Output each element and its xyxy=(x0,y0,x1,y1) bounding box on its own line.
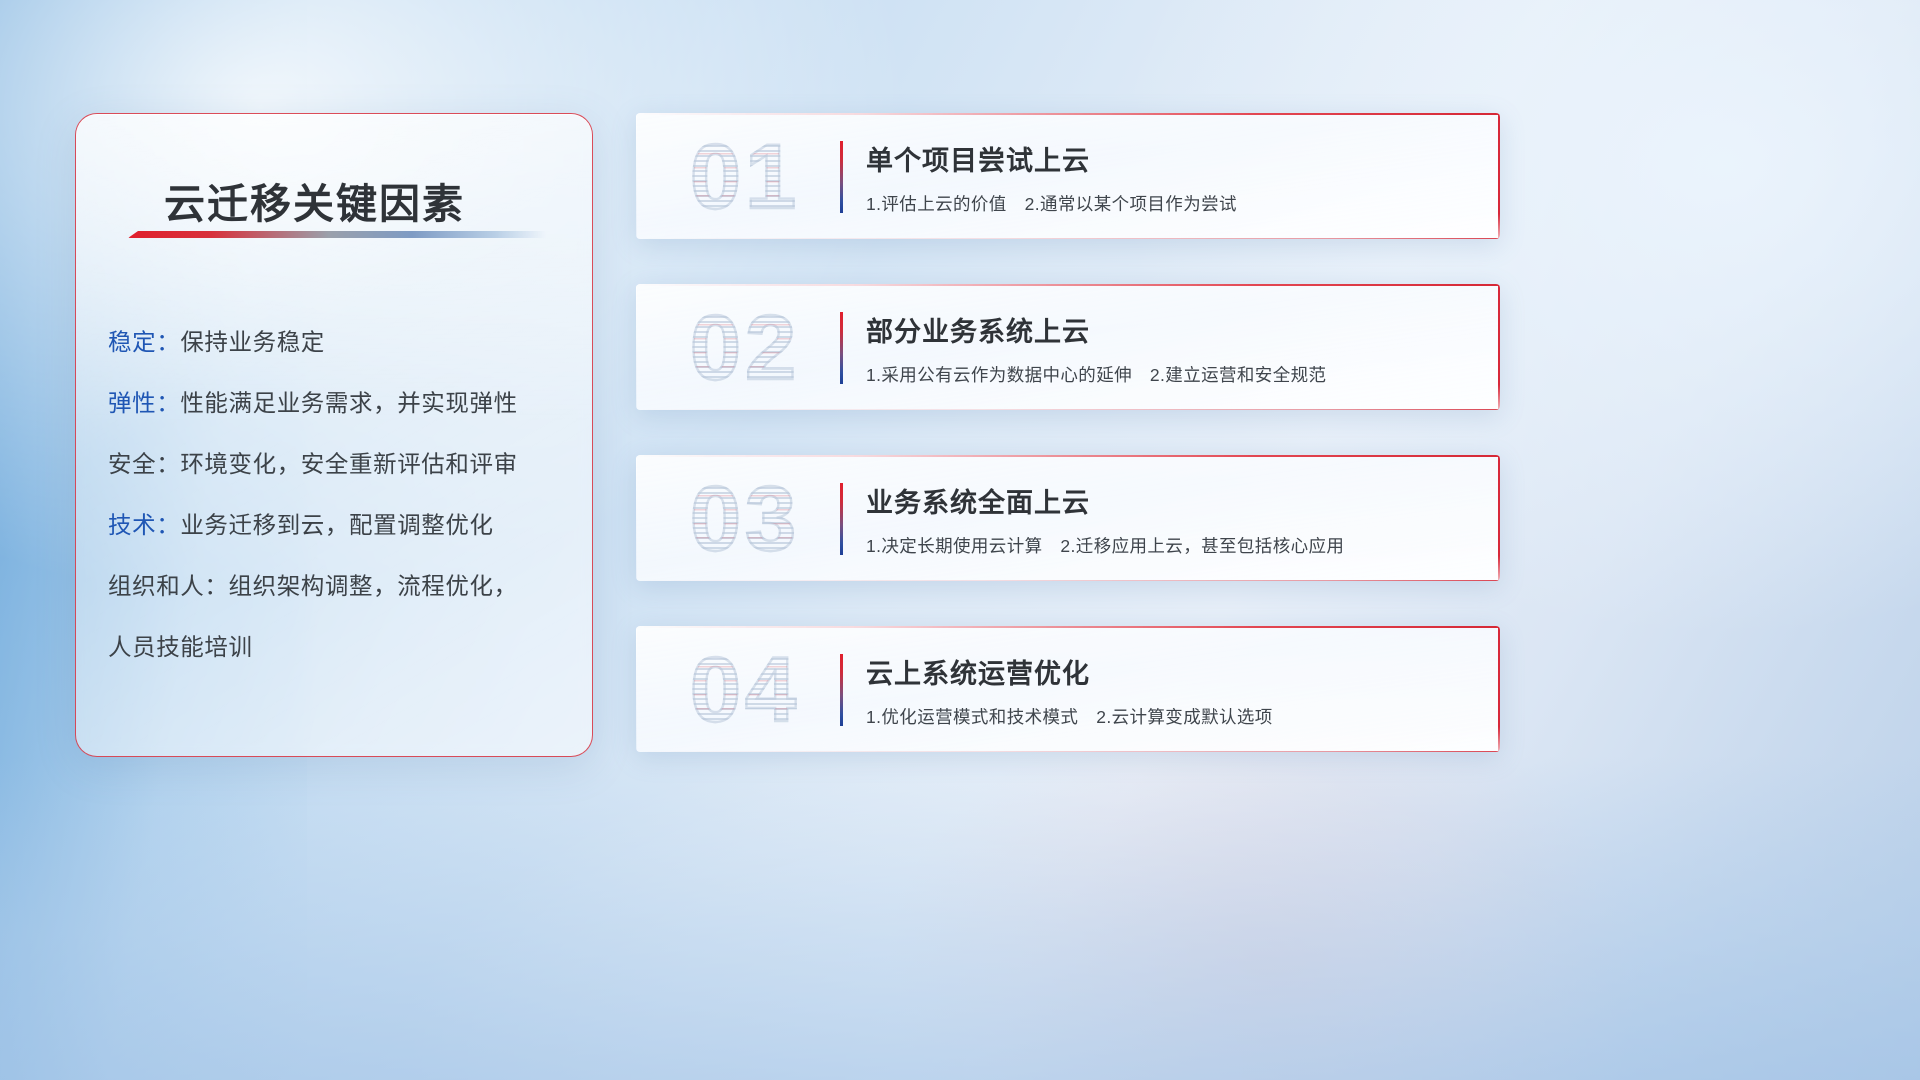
card-top-accent-line xyxy=(636,113,1500,115)
card-heading: 部分业务系统上云 xyxy=(866,310,1090,349)
stage-card[interactable]: 0101单个项目尝试上云1.评估上云的价值 2.通常以某个项目作为尝试 xyxy=(636,113,1500,239)
card-right-accent-line xyxy=(1498,455,1500,581)
factor-line: 技术：业务迁移到云，配置调整优化 xyxy=(108,495,570,556)
card-top-accent-line xyxy=(636,455,1500,457)
slide-stage: 云迁移关键因素 稳定：保持业务稳定弹性：性能满足业务需求，并实现弹性安全：环境变… xyxy=(0,0,1920,1080)
factor-text: 性能满足业务需求，并实现弹性 xyxy=(180,390,517,416)
factor-line: 弹性：性能满足业务需求，并实现弹性 xyxy=(108,373,570,434)
stage-number-watermark-red-overlay: 01 xyxy=(660,125,830,229)
factor-key: 技术： xyxy=(108,512,180,538)
card-top-accent-line xyxy=(636,626,1500,628)
card-heading: 云上系统运营优化 xyxy=(866,652,1090,691)
card-bottom-accent-line xyxy=(636,409,1500,410)
key-factors-panel: 云迁移关键因素 稳定：保持业务稳定弹性：性能满足业务需求，并实现弹性安全：环境变… xyxy=(75,113,593,757)
title-underline-rule xyxy=(128,231,546,238)
factor-key: 组织和人： xyxy=(108,573,229,599)
factor-text: 保持业务稳定 xyxy=(180,329,325,355)
card-right-accent-line xyxy=(1498,626,1500,752)
card-accent-bar xyxy=(840,483,843,555)
stage-card[interactable]: 0404云上系统运营优化1.优化运营模式和技术模式 2.云计算变成默认选项 xyxy=(636,626,1500,752)
stage-card-list: 0101单个项目尝试上云1.评估上云的价值 2.通常以某个项目作为尝试0202部… xyxy=(636,113,1500,797)
factor-line: 人员技能培训 xyxy=(108,617,570,678)
factor-text: 组织架构调整，流程优化， xyxy=(229,573,518,599)
page-title: 云迁移关键因素 xyxy=(164,170,465,230)
card-bottom-accent-line xyxy=(636,751,1500,752)
factor-key: 安全： xyxy=(108,451,180,477)
stage-card[interactable]: 0303业务系统全面上云1.决定长期使用云计算 2.迁移应用上云，甚至包括核心应… xyxy=(636,455,1500,581)
stage-number-watermark-red-overlay: 03 xyxy=(660,467,830,571)
factor-text: 业务迁移到云，配置调整优化 xyxy=(180,512,493,538)
card-accent-bar xyxy=(840,312,843,384)
factor-line: 稳定：保持业务稳定 xyxy=(108,312,570,373)
stage-number-watermark-red-overlay: 02 xyxy=(660,296,830,400)
factor-line: 组织和人：组织架构调整，流程优化， xyxy=(108,556,570,617)
card-accent-bar xyxy=(840,141,843,213)
factor-list: 稳定：保持业务稳定弹性：性能满足业务需求，并实现弹性安全：环境变化，安全重新评估… xyxy=(108,312,570,678)
card-bottom-accent-line xyxy=(636,580,1500,581)
card-heading: 业务系统全面上云 xyxy=(866,481,1090,520)
factor-line: 安全：环境变化，安全重新评估和评审 xyxy=(108,434,570,495)
factor-text: 人员技能培训 xyxy=(108,634,253,660)
card-bottom-accent-line xyxy=(636,238,1500,239)
card-description: 1.优化运营模式和技术模式 2.云计算变成默认选项 xyxy=(866,704,1273,729)
card-top-accent-line xyxy=(636,284,1500,286)
card-left-edge xyxy=(636,626,637,752)
card-left-edge xyxy=(636,284,637,410)
card-description: 1.评估上云的价值 2.通常以某个项目作为尝试 xyxy=(866,191,1237,216)
factor-text: 环境变化，安全重新评估和评审 xyxy=(180,451,517,477)
card-heading: 单个项目尝试上云 xyxy=(866,139,1090,178)
card-left-edge xyxy=(636,113,637,239)
card-right-accent-line xyxy=(1498,284,1500,410)
stage-card[interactable]: 0202部分业务系统上云1.采用公有云作为数据中心的延伸 2.建立运营和安全规范 xyxy=(636,284,1500,410)
factor-key: 稳定： xyxy=(108,329,180,355)
card-right-accent-line xyxy=(1498,113,1500,239)
card-description: 1.采用公有云作为数据中心的延伸 2.建立运营和安全规范 xyxy=(866,362,1326,387)
card-left-edge xyxy=(636,455,637,581)
factor-key: 弹性： xyxy=(108,390,180,416)
stage-number-watermark-red-overlay: 04 xyxy=(660,638,830,742)
card-description: 1.决定长期使用云计算 2.迁移应用上云，甚至包括核心应用 xyxy=(866,533,1344,558)
card-accent-bar xyxy=(840,654,843,726)
